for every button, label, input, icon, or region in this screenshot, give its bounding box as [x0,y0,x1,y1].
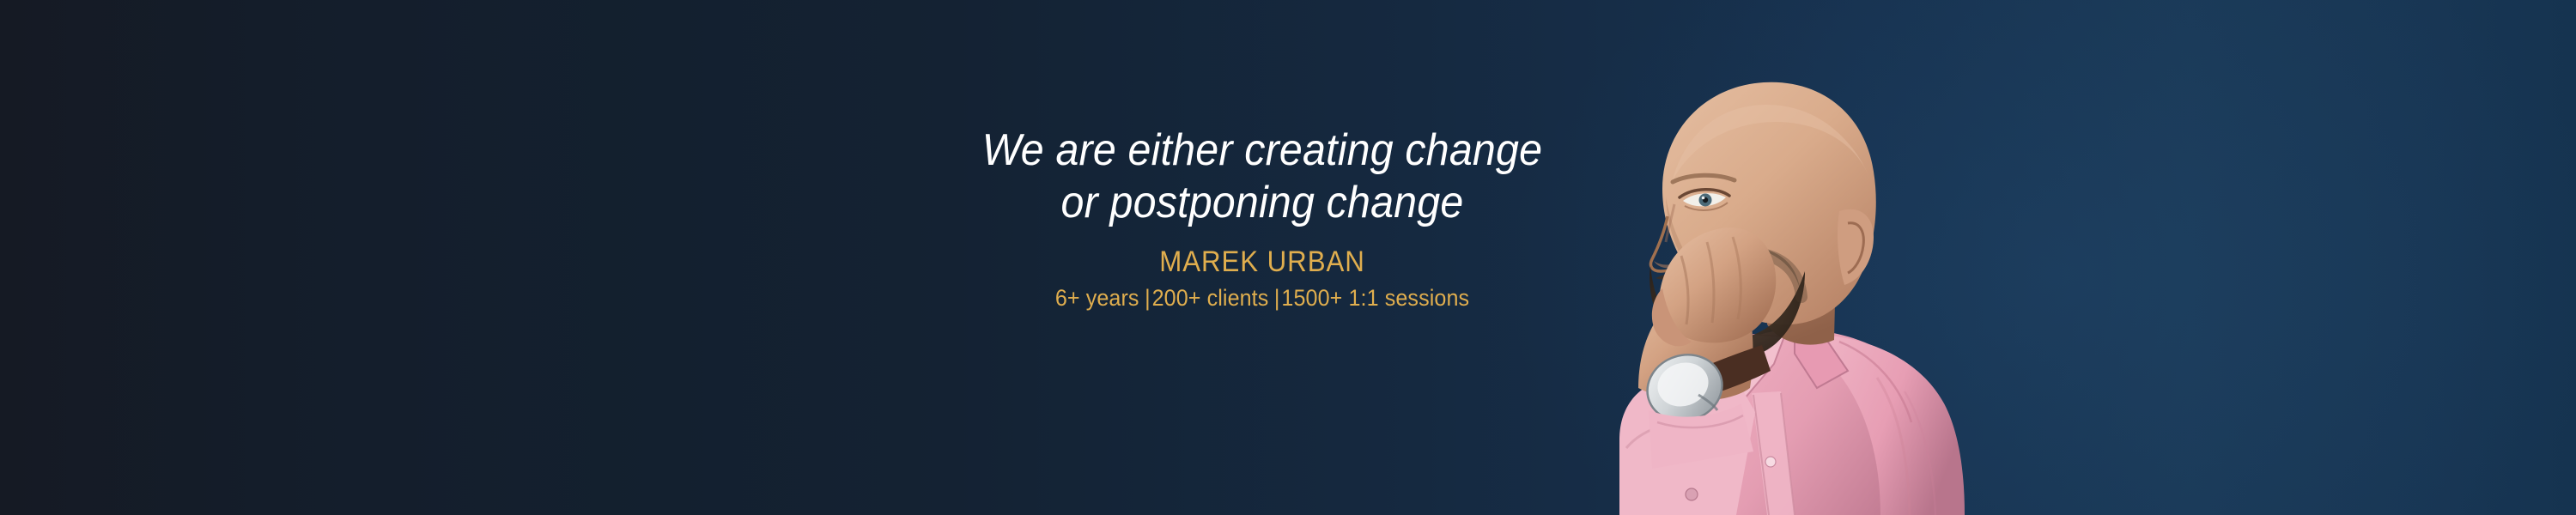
stat-separator-1: | [1139,285,1152,311]
coach-name: MAREK URBAN [914,245,1610,280]
stat-clients: 200+ clients [1152,285,1269,311]
hero-text-block: We are either creating change or postpon… [884,124,1640,313]
ear [1838,209,1874,285]
page-title: We are either creating change or postpon… [911,124,1613,229]
headline-line-1: We are either creating change [911,124,1613,177]
hero-banner: We are either creating change or postpon… [0,0,2576,515]
credentials-line: 6+ years|200+ clients|1500+ 1:1 sessions [911,284,1613,313]
headline-line-2: or postponing change [911,177,1613,229]
stat-years: 6+ years [1055,285,1139,311]
stat-sessions: 1500+ 1:1 sessions [1281,285,1469,311]
stat-separator-2: | [1268,285,1281,311]
